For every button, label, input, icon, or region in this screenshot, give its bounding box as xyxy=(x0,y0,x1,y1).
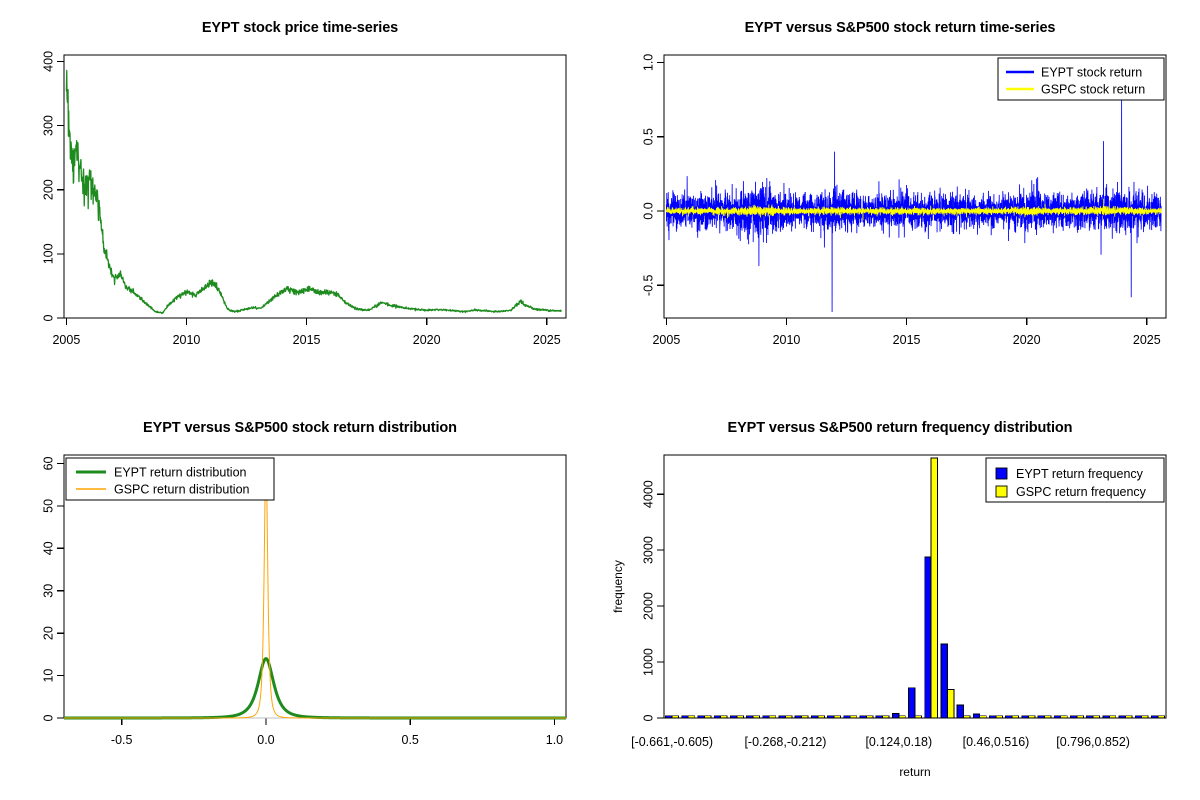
hist-xlabel: return xyxy=(899,765,930,779)
svg-text:30: 30 xyxy=(42,584,56,598)
figure-root: EYPT stock price time-series 01002003004… xyxy=(0,0,1200,800)
svg-text:1.0: 1.0 xyxy=(642,54,656,71)
svg-text:EYPT return distribution: EYPT return distribution xyxy=(114,466,247,480)
svg-text:0.5: 0.5 xyxy=(642,128,656,145)
svg-text:[-0.268,-0.212): [-0.268,-0.212) xyxy=(744,735,826,749)
svg-text:60: 60 xyxy=(42,456,56,470)
plot-return-timeseries: -0.50.00.51.020052010201520202025EYPT st… xyxy=(600,0,1200,400)
svg-text:2000: 2000 xyxy=(642,592,656,620)
svg-text:2025: 2025 xyxy=(533,333,561,347)
panel-return-timeseries: EYPT versus S&P500 stock return time-ser… xyxy=(600,0,1200,400)
svg-text:200: 200 xyxy=(42,179,56,200)
svg-text:EYPT return frequency: EYPT return frequency xyxy=(1016,467,1144,481)
svg-text:EYPT stock return: EYPT stock return xyxy=(1041,66,1142,80)
svg-text:4000: 4000 xyxy=(642,480,656,508)
svg-text:[0.124,0.18): [0.124,0.18) xyxy=(865,735,932,749)
svg-text:2005: 2005 xyxy=(652,333,680,347)
svg-text:0: 0 xyxy=(642,714,656,721)
svg-text:GSPC return distribution: GSPC return distribution xyxy=(114,483,250,497)
svg-text:2005: 2005 xyxy=(52,333,80,347)
svg-text:[-0.661,-0.605): [-0.661,-0.605) xyxy=(631,735,713,749)
plot-eypt-price: 010020030040020052010201520202025 xyxy=(0,0,600,400)
svg-text:2020: 2020 xyxy=(413,333,441,347)
svg-text:400: 400 xyxy=(42,51,56,72)
svg-text:40: 40 xyxy=(42,541,56,555)
plot-return-distribution: 0102030405060-0.50.00.51.0EYPT return di… xyxy=(0,400,600,800)
svg-text:1000: 1000 xyxy=(642,648,656,676)
svg-text:2020: 2020 xyxy=(1013,333,1041,347)
svg-text:0.0: 0.0 xyxy=(642,202,656,219)
svg-text:100: 100 xyxy=(42,243,56,264)
panel-return-frequency: EYPT versus S&P500 return frequency dist… xyxy=(600,400,1200,800)
panel-eypt-price: EYPT stock price time-series 01002003004… xyxy=(0,0,600,400)
svg-text:0: 0 xyxy=(42,714,56,721)
svg-text:2010: 2010 xyxy=(773,333,801,347)
svg-text:[0.46,0.516): [0.46,0.516) xyxy=(963,735,1030,749)
svg-text:-0.5: -0.5 xyxy=(111,733,133,747)
svg-text:300: 300 xyxy=(42,115,56,136)
svg-text:50: 50 xyxy=(42,499,56,513)
hist-ylabel: frequency xyxy=(611,560,625,613)
svg-text:GSPC stock return: GSPC stock return xyxy=(1041,83,1145,97)
svg-text:-0.5: -0.5 xyxy=(642,274,656,296)
svg-text:[0.796,0.852): [0.796,0.852) xyxy=(1056,735,1130,749)
svg-text:10: 10 xyxy=(42,669,56,683)
plot-return-frequency: 01000200030004000[-0.661,-0.605)[-0.268,… xyxy=(600,400,1200,800)
svg-text:2015: 2015 xyxy=(293,333,321,347)
svg-text:2010: 2010 xyxy=(173,333,201,347)
svg-text:2015: 2015 xyxy=(893,333,921,347)
svg-text:0.5: 0.5 xyxy=(402,733,419,747)
panel-return-distribution: EYPT versus S&P500 stock return distribu… xyxy=(0,400,600,800)
svg-text:2025: 2025 xyxy=(1133,333,1161,347)
svg-text:20: 20 xyxy=(42,626,56,640)
svg-text:0: 0 xyxy=(42,314,56,321)
svg-text:0.0: 0.0 xyxy=(257,733,274,747)
svg-text:3000: 3000 xyxy=(642,536,656,564)
svg-text:GSPC return frequency: GSPC return frequency xyxy=(1016,485,1147,499)
svg-text:1.0: 1.0 xyxy=(546,733,563,747)
